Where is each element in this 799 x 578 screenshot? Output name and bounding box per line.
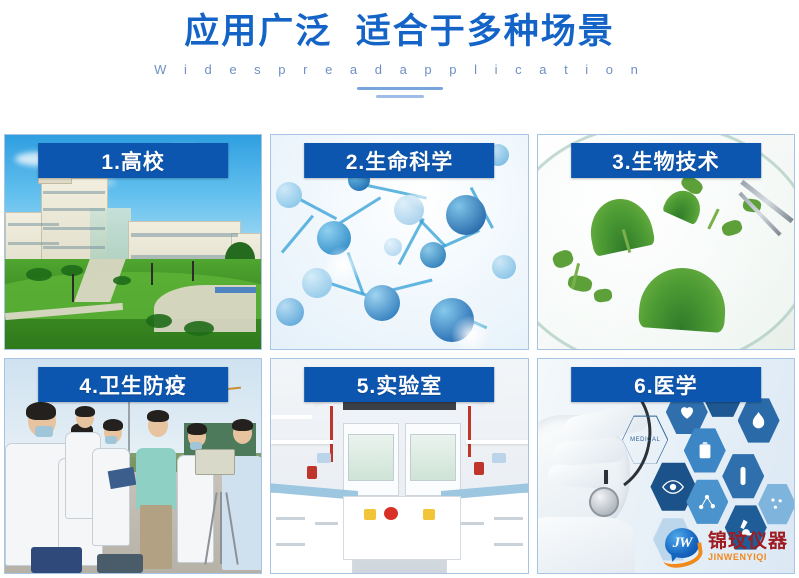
card-banner: 6.医学 — [571, 367, 761, 402]
company-name-cn: 锦玟仪器 — [708, 532, 788, 551]
wrist — [538, 517, 635, 573]
card-label: 6.医学 — [634, 370, 698, 400]
window-row — [43, 191, 105, 194]
window-row — [43, 227, 105, 230]
window-row — [131, 233, 239, 237]
stethoscope-stem — [604, 470, 608, 484]
drawer-handle — [276, 517, 304, 520]
atom — [446, 195, 486, 235]
logo-mark: JW — [663, 527, 703, 567]
logo-arc — [662, 542, 705, 569]
no-entry-sign — [384, 507, 398, 520]
tripod-leg — [220, 492, 222, 565]
hair — [75, 406, 95, 417]
card-label: 2.生命科学 — [346, 146, 454, 176]
drawer-handle — [315, 522, 338, 525]
atom — [364, 285, 400, 321]
hair — [232, 419, 253, 431]
company-name-en: JINWENYIQI — [708, 553, 788, 562]
green-shirt — [136, 448, 176, 508]
window-row — [8, 242, 59, 245]
lamp-post — [151, 263, 153, 285]
card-label: 1.高校 — [101, 146, 165, 176]
shelf — [271, 415, 312, 419]
flame-icon — [751, 412, 766, 430]
window-row — [43, 246, 105, 249]
ceiling-beam — [343, 402, 456, 411]
scenario-card-4[interactable]: 4.卫生防疫 — [4, 358, 262, 574]
person — [174, 423, 218, 569]
scenario-card-6[interactable]: MEDICAL — [537, 358, 795, 574]
mask — [35, 426, 53, 437]
equipment-case — [31, 547, 82, 573]
bench-left — [271, 492, 353, 573]
hood-sash — [410, 434, 456, 481]
lamp-post — [192, 261, 194, 281]
pool — [215, 287, 256, 293]
hair — [187, 423, 207, 435]
card-banner: 3.生物技术 — [571, 143, 761, 178]
eye-icon — [662, 480, 684, 494]
hair — [26, 402, 56, 420]
atom — [420, 242, 446, 268]
divider-line-short — [376, 95, 424, 98]
lab-coat — [92, 448, 129, 546]
dots-icon — [769, 496, 785, 512]
light-flare — [323, 246, 363, 286]
scenario-card-2[interactable]: 2.生命科学 — [270, 134, 528, 350]
sampling-device — [195, 449, 235, 475]
card-label: 3.生物技术 — [612, 146, 720, 176]
scenario-card-1[interactable]: 1.高校 — [4, 134, 262, 350]
light-flare — [451, 315, 491, 349]
bush — [26, 268, 52, 281]
person — [90, 419, 134, 552]
fire-extinguisher — [307, 466, 317, 479]
heart-icon — [678, 403, 696, 421]
card-banner: 4.卫生防疫 — [38, 367, 228, 402]
trousers — [140, 505, 172, 568]
fire-extinguisher — [474, 462, 484, 475]
card-banner: 1.高校 — [38, 143, 228, 178]
atom — [492, 255, 516, 279]
drawer-handle — [276, 543, 304, 546]
clipboard — [107, 467, 136, 489]
test-tube-icon — [737, 466, 749, 486]
mask — [105, 436, 117, 444]
scenario-card-5[interactable]: 5.实验室 — [270, 358, 528, 574]
clipboard-icon — [698, 442, 712, 459]
molecule-icon — [697, 492, 717, 512]
hex-label: MEDICAL — [630, 437, 660, 443]
atom — [384, 238, 402, 256]
drawer-handle — [461, 522, 484, 525]
drawer-handle — [494, 517, 522, 520]
hood-sash — [348, 434, 394, 481]
lamp-post — [72, 274, 74, 302]
company-logo: JW 锦玟仪器 JINWENYIQI — [663, 527, 788, 567]
logo-text: 锦玟仪器 JINWENYIQI — [708, 532, 788, 562]
application-scenarios-page: 应用广泛 适合于多种场景 W i d e s p r e a d a p p l… — [0, 0, 799, 578]
page-title: 应用广泛 适合于多种场景 — [0, 8, 799, 56]
wall-label — [317, 453, 331, 463]
card-banner: 5.实验室 — [305, 367, 495, 402]
shelf — [466, 440, 528, 444]
hazard-sign — [364, 509, 376, 520]
page-subtitle: W i d e s p r e a d a p p l i c a t i o … — [0, 62, 799, 78]
person-green-shirt — [133, 410, 179, 568]
scenario-grid: 1.高校 — [4, 134, 795, 574]
card-banner: 2.生命科学 — [305, 143, 495, 178]
window-row — [8, 223, 59, 226]
window-row — [43, 208, 105, 211]
red-pipe — [468, 406, 471, 457]
hair — [147, 410, 169, 422]
page-header: 应用广泛 适合于多种场景 W i d e s p r e a d a p p l… — [0, 0, 799, 98]
title-divider — [0, 87, 799, 98]
atom — [276, 298, 304, 326]
drawer-handle — [494, 543, 522, 546]
card-label: 5.实验室 — [357, 370, 443, 400]
wall-label — [492, 453, 506, 463]
divider-line-long — [357, 87, 443, 90]
hair — [103, 419, 123, 431]
bush — [146, 314, 172, 328]
scenario-card-3[interactable]: 3.生物技术 — [537, 134, 795, 350]
shelf — [271, 440, 333, 444]
bench-center — [343, 496, 461, 560]
card-label: 4.卫生防疫 — [79, 370, 187, 400]
hazard-sign — [423, 509, 435, 520]
equipment-case — [97, 554, 143, 573]
bush — [113, 276, 131, 285]
